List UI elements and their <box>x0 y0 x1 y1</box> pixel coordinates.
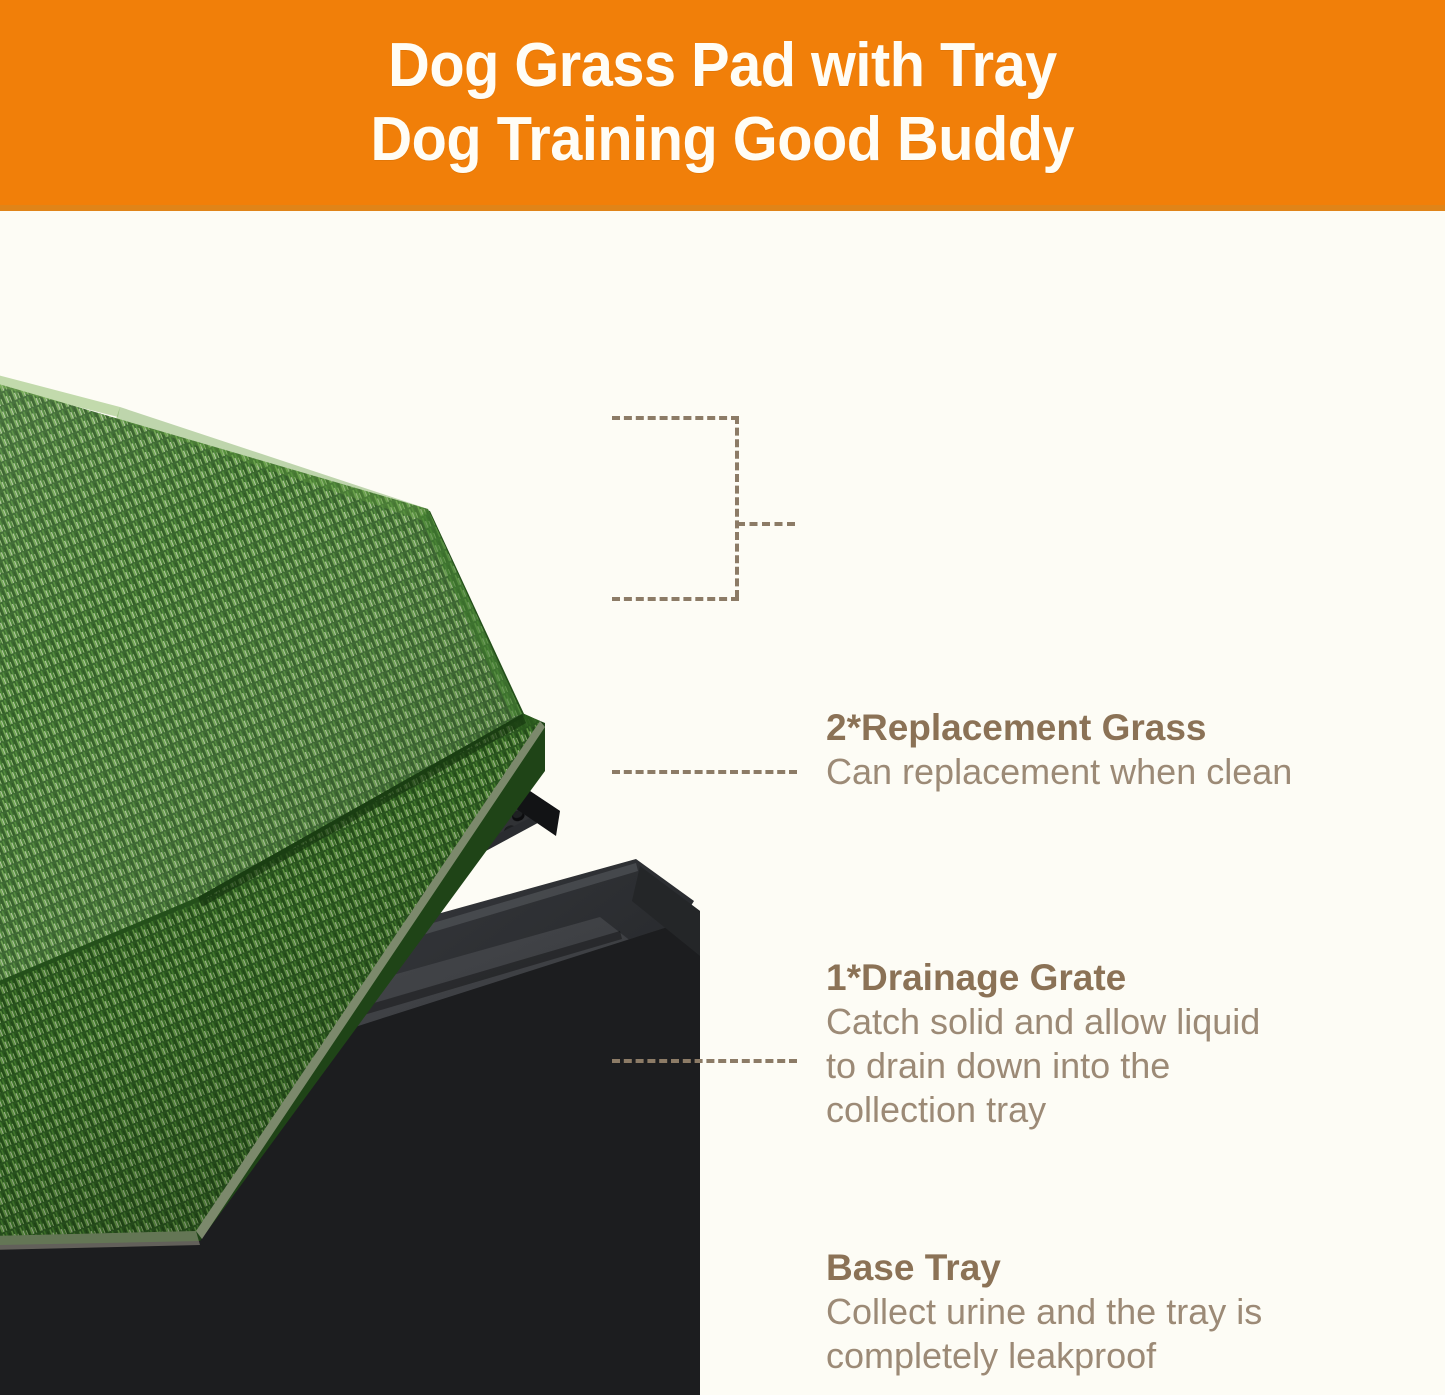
banner-title-line-1: Dog Grass Pad with Tray <box>388 29 1057 103</box>
callout-grate-body-line-1: Catch solid and allow liquid <box>826 1000 1260 1044</box>
callout-base-tray: Base Tray Collect urine and the tray is … <box>826 1246 1262 1378</box>
connector-grass-stub <box>737 522 795 526</box>
connector-grate-line <box>612 770 797 774</box>
callout-grate-body: Catch solid and allow liquid to drain do… <box>826 1000 1260 1132</box>
callout-replacement-grass: 2*Replacement Grass Can replacement when… <box>826 706 1292 794</box>
callout-tray-body-line-2: completely leakproof <box>826 1334 1262 1378</box>
callout-tray-body-line-1: Collect urine and the tray is <box>826 1290 1262 1334</box>
header-banner: Dog Grass Pad with Tray Dog Training Goo… <box>0 0 1445 205</box>
product-exploded-view <box>0 211 700 1395</box>
connector-grass-bottom-line <box>612 597 739 601</box>
callout-tray-heading: Base Tray <box>826 1246 1262 1290</box>
callout-grass-heading: 2*Replacement Grass <box>826 706 1292 750</box>
connector-grass-top-line <box>612 416 739 420</box>
callout-grate-heading: 1*Drainage Grate <box>826 956 1260 1000</box>
banner-title-line-2: Dog Training Good Buddy <box>371 103 1075 177</box>
connector-grass-vertical <box>735 416 739 598</box>
callout-grate-body-line-3: collection tray <box>826 1088 1260 1132</box>
product-illustration-stage: 2*Replacement Grass Can replacement when… <box>0 211 1445 1395</box>
callout-tray-body: Collect urine and the tray is completely… <box>826 1290 1262 1378</box>
callout-grass-body: Can replacement when clean <box>826 750 1292 794</box>
callout-drainage-grate: 1*Drainage Grate Catch solid and allow l… <box>826 956 1260 1132</box>
callout-grass-body-line-1: Can replacement when clean <box>826 750 1292 794</box>
connector-tray-line <box>612 1059 797 1063</box>
callout-grate-body-line-2: to drain down into the <box>826 1044 1260 1088</box>
